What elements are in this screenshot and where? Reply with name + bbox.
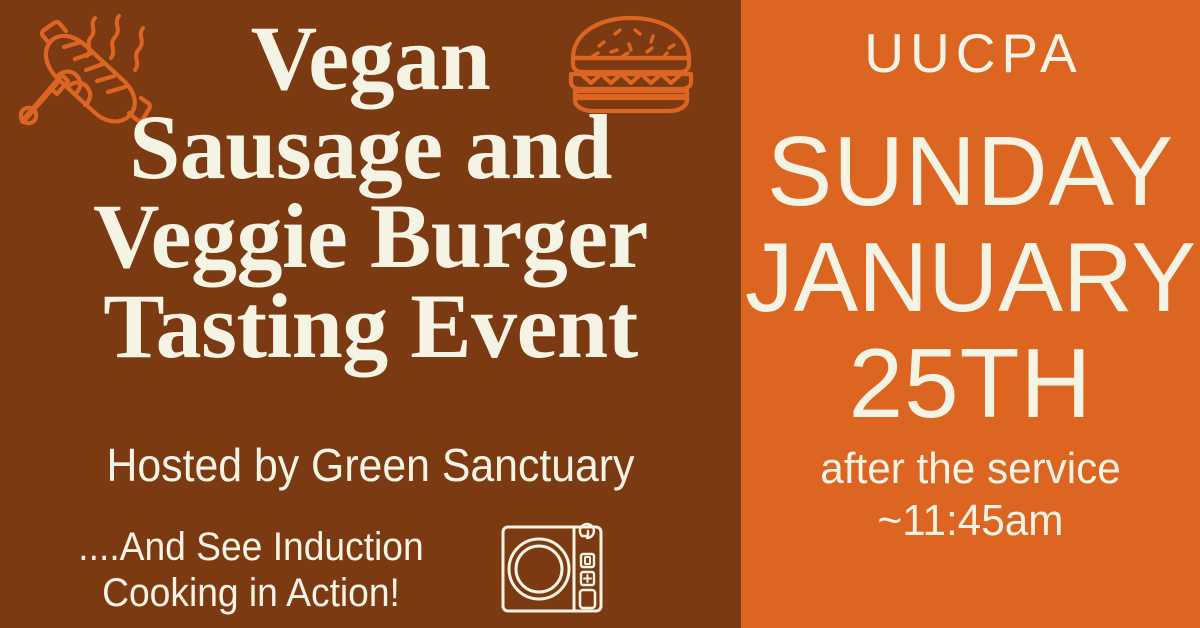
event-flyer: Vegan Sausage and Veggie Burger Tasting … <box>0 0 1200 628</box>
headline-line-1: Vegan <box>0 14 741 103</box>
induction-text-line-2: Cooking in Action! <box>51 570 451 616</box>
event-time-line-1: after the service <box>750 443 1191 495</box>
organization-name: UUCPA <box>741 26 1200 81</box>
event-day-of-week: SUNDAY <box>741 122 1200 220</box>
headline: Vegan Sausage and Veggie Burger Tasting … <box>0 14 741 371</box>
induction-cooktop-icon <box>500 523 604 615</box>
event-time-details: after the service ~11:45am <box>750 443 1191 547</box>
headline-line-4: Tasting Event <box>0 282 741 371</box>
headline-line-3: Veggie Burger <box>0 192 741 281</box>
event-time-line-2: ~11:45am <box>750 495 1191 547</box>
induction-text-line-1: ....And See Induction <box>51 524 451 570</box>
headline-line-2: Sausage and <box>0 103 741 192</box>
event-month: JANUARY <box>743 228 1197 326</box>
event-day-number: 25TH <box>741 334 1200 432</box>
induction-cooking-text: ....And See Induction Cooking in Action! <box>51 524 451 617</box>
hosted-by-text: Hosted by Green Sanctuary <box>26 438 715 492</box>
